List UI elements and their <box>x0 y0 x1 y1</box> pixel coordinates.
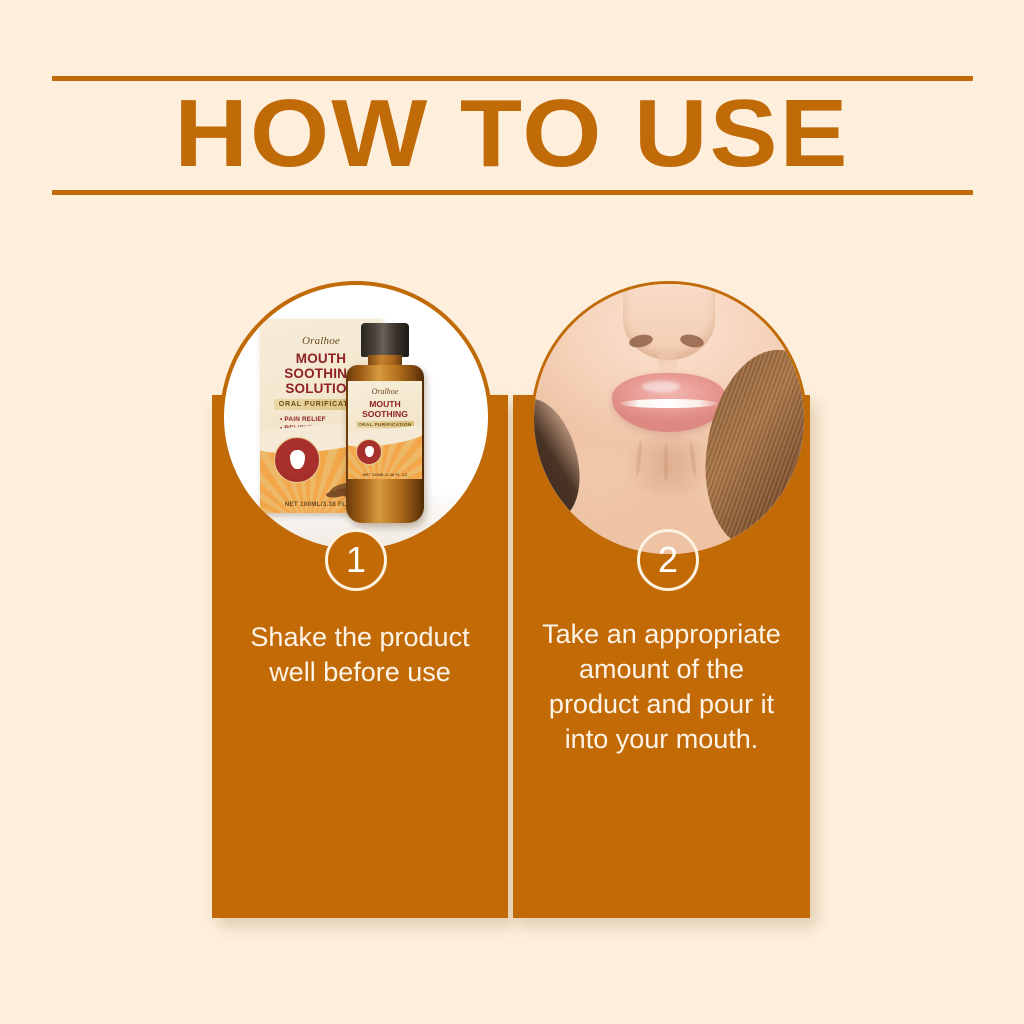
chin-crease <box>664 443 668 481</box>
product-bottle: Oralhoe MOUTH SOOTHING SOLUTION ORAL PUR… <box>344 323 426 523</box>
page-title: HOW TO USE <box>0 80 1024 188</box>
bottle-label: Oralhoe MOUTH SOOTHING SOLUTION ORAL PUR… <box>348 381 422 479</box>
tooth-icon <box>356 439 382 465</box>
title-rule-bottom <box>52 190 973 195</box>
bottle-brand-label: Oralhoe <box>348 387 422 396</box>
step-2-mouth-image <box>531 281 807 557</box>
step-1-caption: Shake the product well before use <box>212 620 508 690</box>
philtrum <box>658 349 677 376</box>
step-1-number-badge: 1 <box>325 529 387 591</box>
tooth-icon <box>274 437 320 483</box>
poster-canvas: HOW TO USE Shake the product well before… <box>0 0 1024 1024</box>
step-2-number-badge: 2 <box>637 529 699 591</box>
lip-highlight <box>642 381 680 392</box>
product-packshot: Oralhoe MOUTH SOOTHING SOLUTION ORAL PUR… <box>224 285 492 553</box>
step-1-product-image: Oralhoe MOUTH SOOTHING SOLUTION ORAL PUR… <box>220 281 492 553</box>
bottle-cap <box>361 323 409 357</box>
woman-mouth-photo <box>534 284 804 554</box>
step-2-caption: Take an appropriate amount of the produc… <box>513 617 810 757</box>
bottle-net-content: NET 100ML/3.38 FL OZ <box>348 473 422 477</box>
